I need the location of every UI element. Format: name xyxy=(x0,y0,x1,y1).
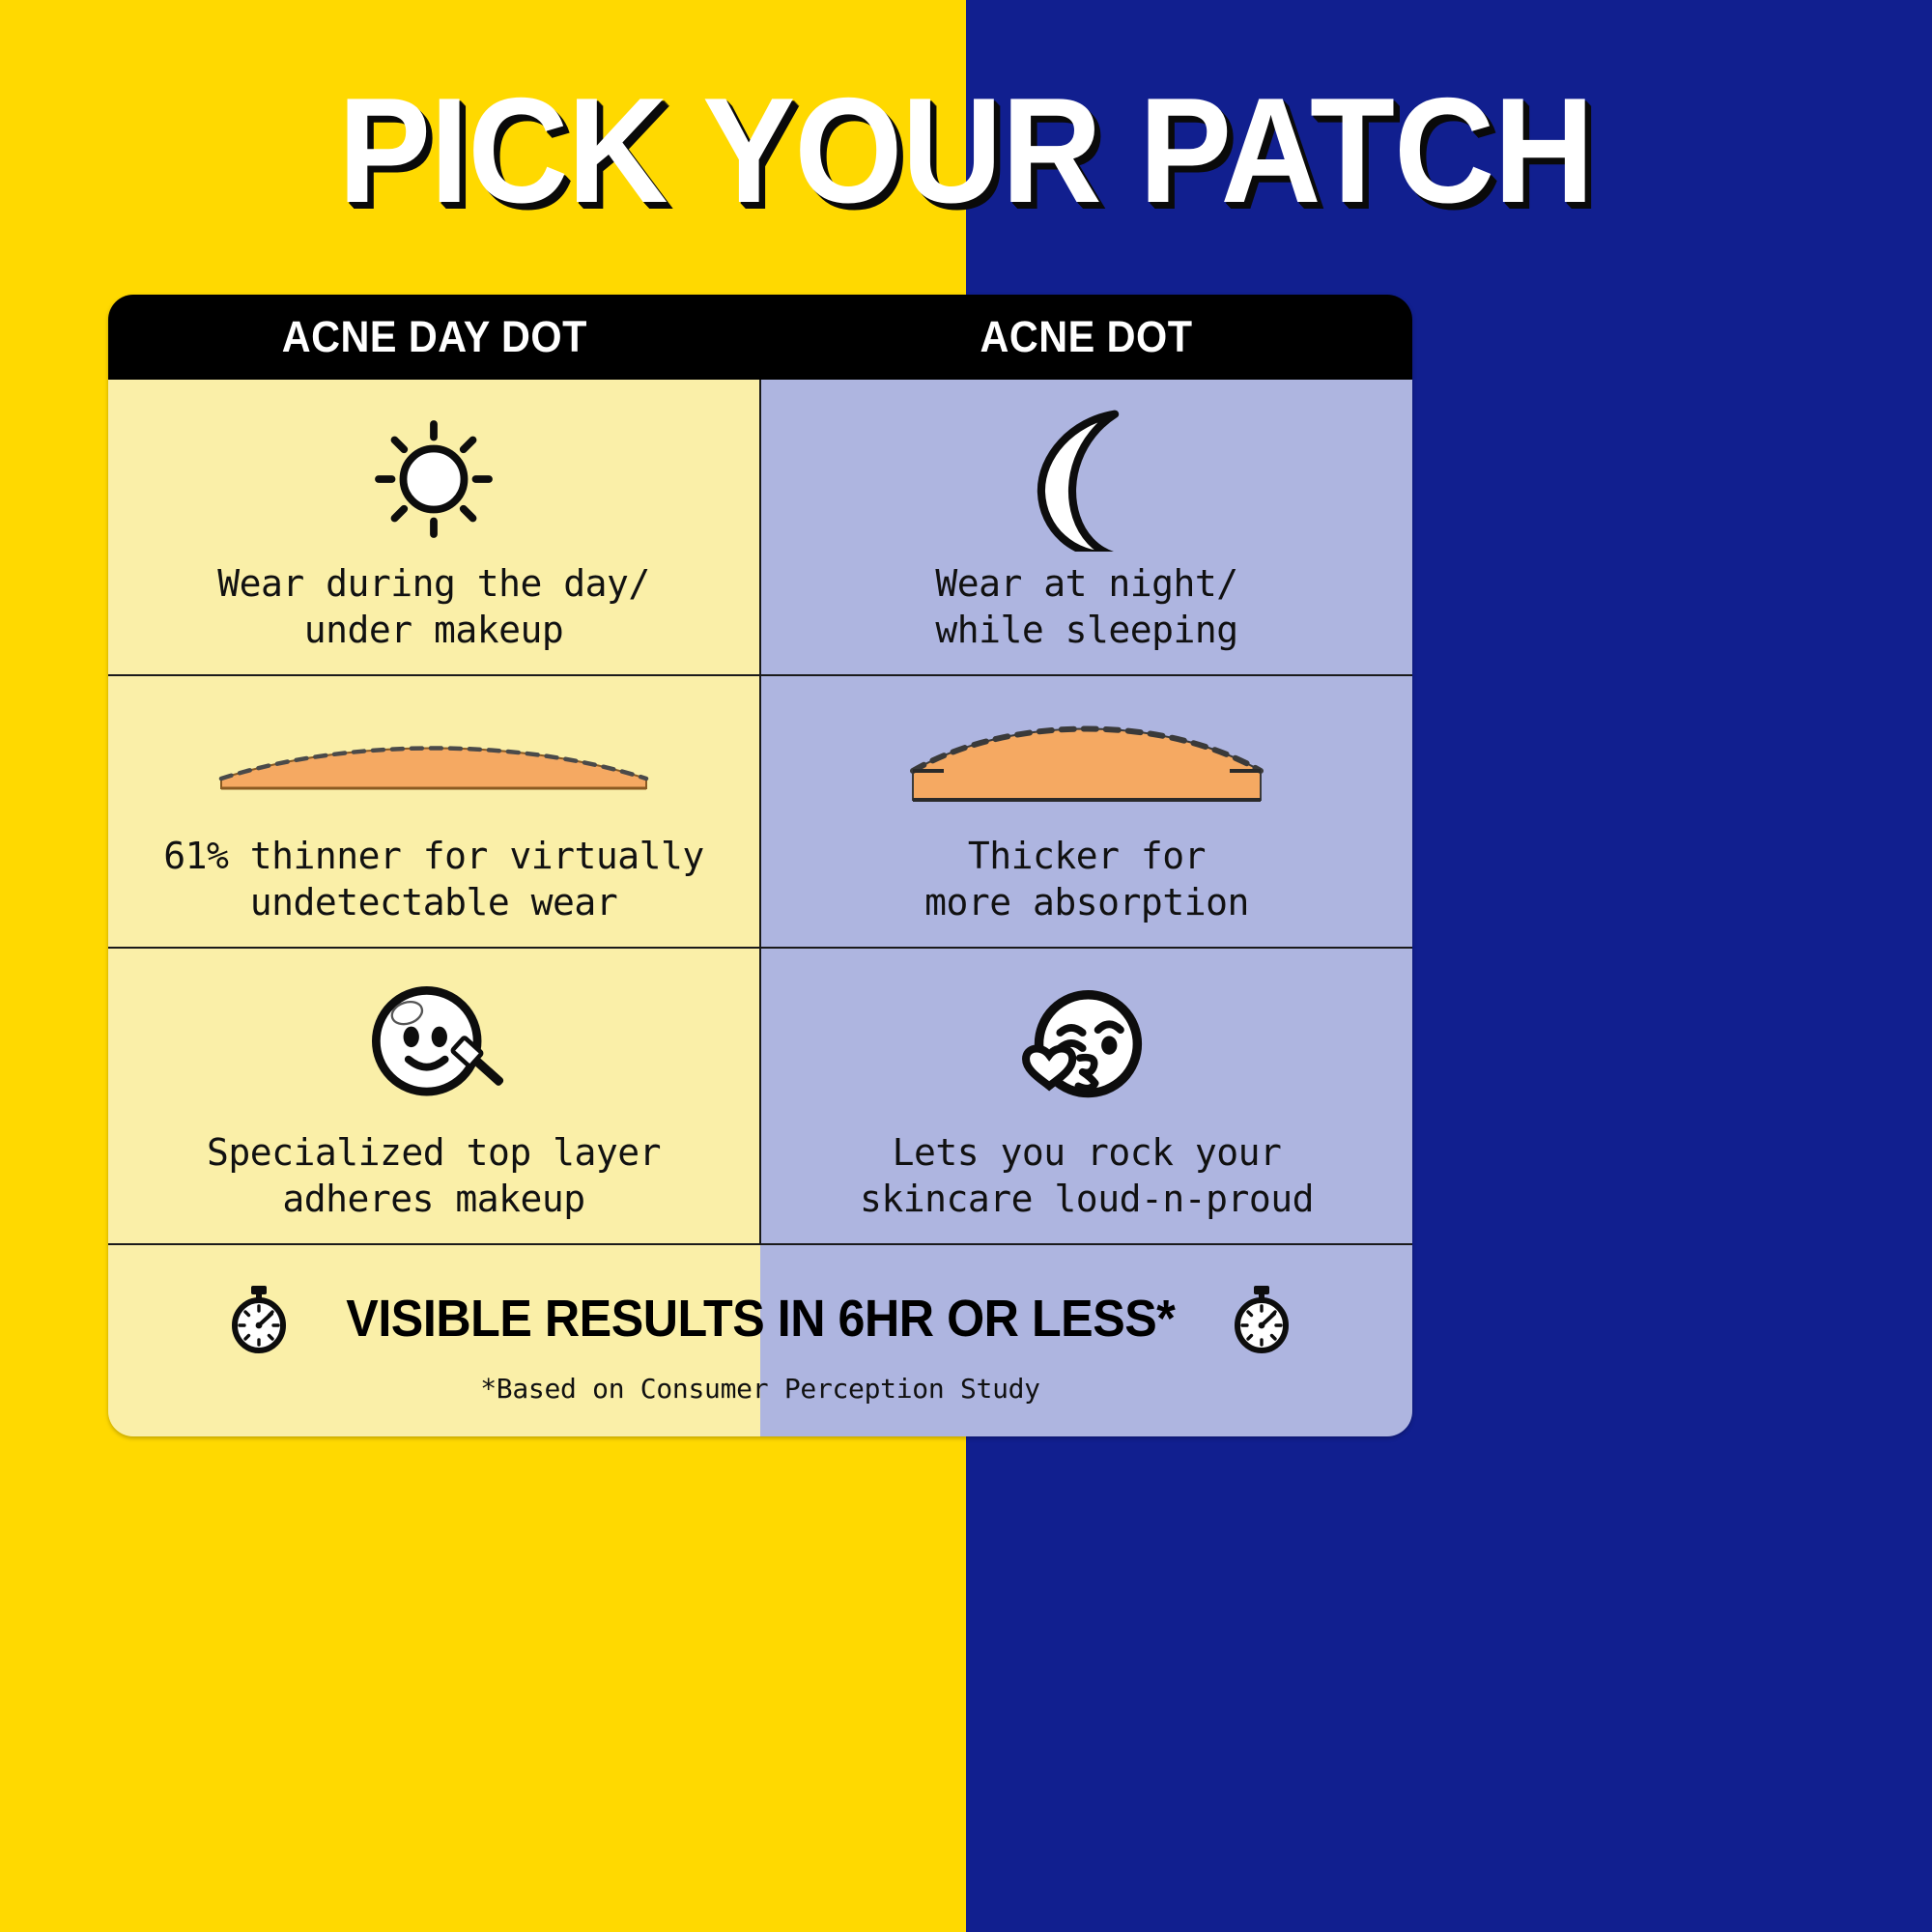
banner-label: VISIBLE RESULTS IN 6HR OR LESS* xyxy=(346,1289,1175,1349)
thin-patch-profile-icon xyxy=(212,721,656,808)
cell-text: Wear during the day/ under makeup xyxy=(217,561,650,653)
table-row: Wear during the day/ under makeup Wear a… xyxy=(108,380,1412,674)
cell-text: Specialized top layer adheres makeup xyxy=(207,1130,661,1222)
cell-when-to-wear-night: Wear at night/ while sleeping xyxy=(761,380,1412,674)
moon-icon-box xyxy=(786,397,1387,561)
sun-icon xyxy=(361,407,506,552)
thick-patch-icon-box xyxy=(786,694,1387,834)
kiss-face-icon-box xyxy=(786,966,1387,1130)
cell-text: Lets you rock your skincare loud-n-proud xyxy=(860,1130,1314,1222)
kissing-wink-heart-face-icon xyxy=(1009,971,1164,1125)
thick-patch-profile-icon xyxy=(903,711,1270,817)
cell-text: Thicker for more absorption xyxy=(924,834,1249,925)
column-header-label: ACNE DAY DOT xyxy=(281,312,586,362)
stopwatch-icon xyxy=(228,1284,290,1353)
table-row: 61% thinner for virtually undetectable w… xyxy=(108,674,1412,947)
smiley-brush-icon-box xyxy=(133,966,734,1130)
cell-text: 61% thinner for virtually undetectable w… xyxy=(163,834,703,925)
page-title: PICK YOUR PATCH xyxy=(338,75,1594,225)
cell-thickness-thick: Thicker for more absorption xyxy=(761,674,1412,947)
cell-makeup-loud-proud: Lets you rock your skincare loud-n-proud xyxy=(761,947,1412,1243)
banner-footnote: *Based on Consumer Perception Study xyxy=(480,1373,1040,1405)
cell-makeup-adheres: Specialized top layer adheres makeup xyxy=(108,947,761,1243)
cell-when-to-wear-day: Wear during the day/ under makeup xyxy=(108,380,761,674)
banner-content: VISIBLE RESULTS IN 6HR OR LESS* xyxy=(228,1284,1293,1353)
cell-thickness-thin: 61% thinner for virtually undetectable w… xyxy=(108,674,761,947)
column-header-acne-day-dot: ACNE DAY DOT xyxy=(108,295,760,380)
crescent-moon-icon xyxy=(1014,407,1159,552)
smiley-with-makeup-brush-icon xyxy=(356,971,511,1125)
sun-icon-box xyxy=(133,397,734,561)
column-header-label: ACNE DOT xyxy=(980,312,1193,362)
thin-patch-icon-box xyxy=(133,694,734,834)
results-banner: VISIBLE RESULTS IN 6HR OR LESS* xyxy=(108,1243,1412,1436)
stopwatch-icon xyxy=(1231,1284,1293,1353)
table-row: Specialized top layer adheres makeup Let… xyxy=(108,947,1412,1243)
comparison-card: ACNE DAY DOT ACNE DOT xyxy=(108,295,1412,1436)
comparison-table-header: ACNE DAY DOT ACNE DOT xyxy=(108,295,1412,380)
page-title-container: PICK YOUR PATCH xyxy=(0,75,1932,225)
cell-text: Wear at night/ while sleeping xyxy=(935,561,1237,653)
column-header-acne-dot: ACNE DOT xyxy=(760,295,1412,380)
